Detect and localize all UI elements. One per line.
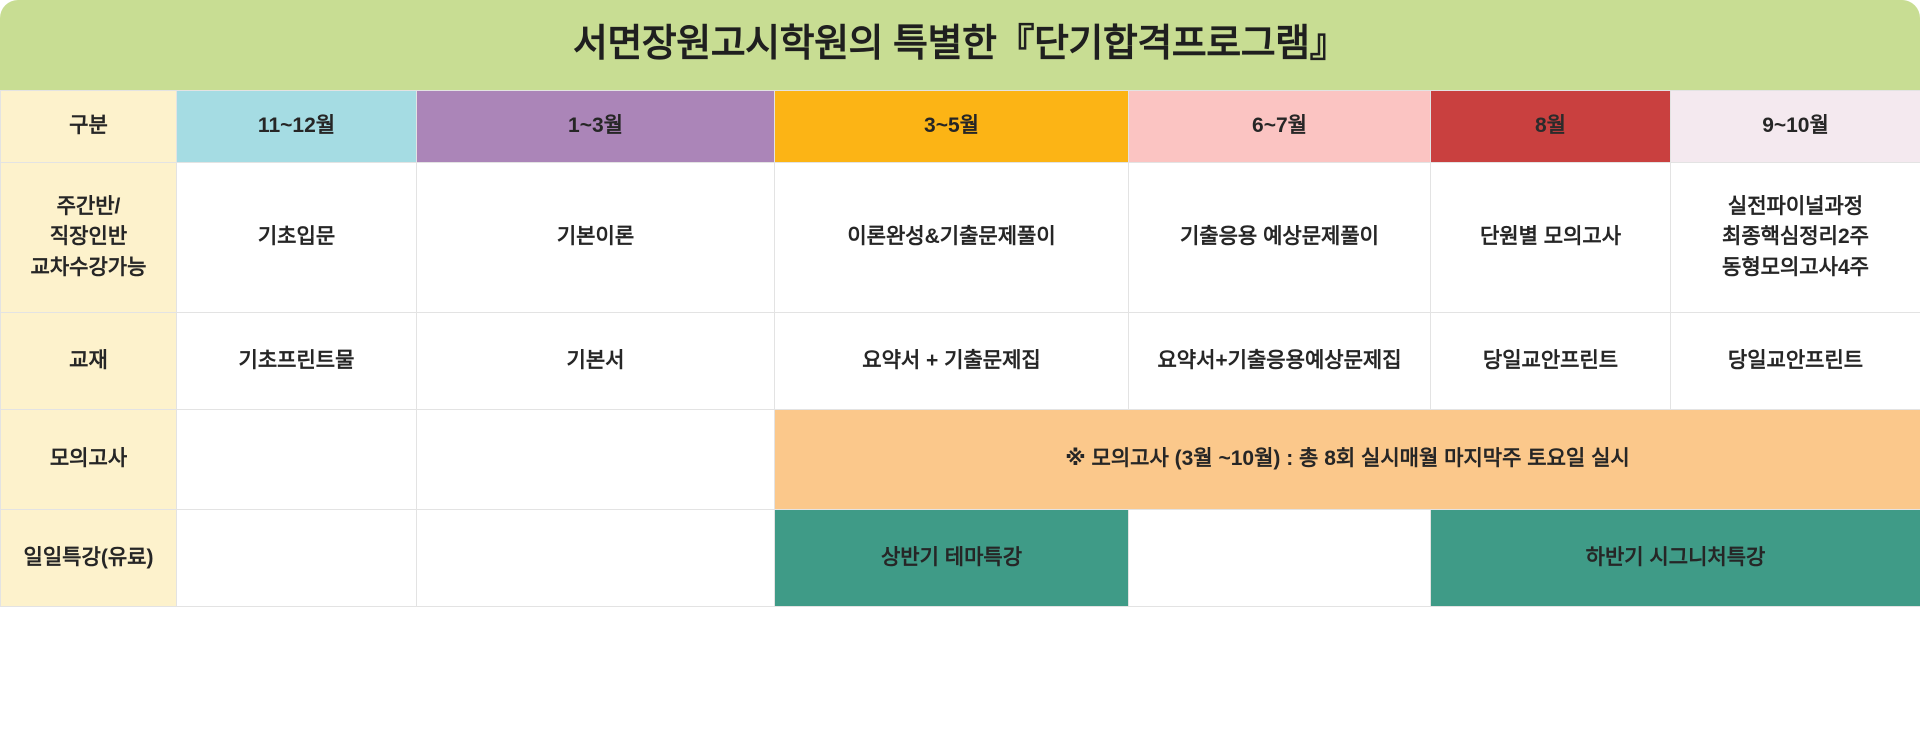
course-cell-nov-dec: 기초입문 xyxy=(177,163,417,313)
row-label-special-lecture: 일일특강(유료) xyxy=(1,510,177,607)
textbook-cell-aug: 당일교안프린트 xyxy=(1431,313,1671,410)
course-cell-aug: 단원별 모의고사 xyxy=(1431,163,1671,313)
course-cell-jan-mar: 기본이론 xyxy=(417,163,775,313)
page-title: 서면장원고시학원의 특별한『단기합격프로그램』 xyxy=(573,24,1347,66)
header-cell-nov-dec: 11~12월 xyxy=(177,91,417,163)
header-cell-jun-jul: 6~7월 xyxy=(1129,91,1431,163)
title-banner: 서면장원고시학원의 특별한『단기합격프로그램』 xyxy=(0,0,1920,90)
textbook-cell-jan-mar: 기본서 xyxy=(417,313,775,410)
header-cell-mar-may: 3~5월 xyxy=(775,91,1129,163)
table-row-course: 주간반/ 직장인반 교차수강가능 기초입문 기본이론 이론완성&기출문제풀이 기… xyxy=(1,163,1920,313)
row-label-textbook: 교재 xyxy=(1,313,177,410)
textbook-cell-nov-dec: 기초프린트물 xyxy=(177,313,417,410)
course-cell-mar-may: 이론완성&기출문제풀이 xyxy=(775,163,1129,313)
special-cell-jun-jul-empty xyxy=(1129,510,1431,607)
row-label-course-line3: 교차수강가능 xyxy=(9,253,168,283)
header-cell-division: 구분 xyxy=(1,91,177,163)
table-header-row: 구분 11~12월 1~3월 3~5월 6~7월 8월 9~10월 xyxy=(1,91,1920,163)
mock-cell-jan-mar-empty xyxy=(417,410,775,510)
textbook-cell-sep-oct: 당일교안프린트 xyxy=(1671,313,1920,410)
course-cell-sep-oct-line2: 최종핵심정리2주 xyxy=(1679,222,1912,252)
row-label-mock-exam: 모의고사 xyxy=(1,410,177,510)
table-row-textbook: 교재 기초프린트물 기본서 요약서 + 기출문제집 요약서+기출응용예상문제집 … xyxy=(1,313,1920,410)
program-schedule-page: 서면장원고시학원의 특별한『단기합격프로그램』 구분 11~12월 1~3월 3… xyxy=(0,0,1920,750)
course-cell-jun-jul: 기출응용 예상문제풀이 xyxy=(1129,163,1431,313)
row-label-course-line2: 직장인반 xyxy=(9,222,168,252)
special-lecture-first-half: 상반기 테마특강 xyxy=(775,510,1129,607)
table-row-mock-exam: 모의고사 ※ 모의고사 (3월 ~10월) : 총 8회 실시매월 마지막주 토… xyxy=(1,410,1920,510)
header-cell-aug: 8월 xyxy=(1431,91,1671,163)
header-cell-sep-oct: 9~10월 xyxy=(1671,91,1920,163)
special-cell-nov-dec-empty xyxy=(177,510,417,607)
special-lecture-second-half: 하반기 시그니처특강 xyxy=(1431,510,1920,607)
textbook-cell-mar-may: 요약서 + 기출문제집 xyxy=(775,313,1129,410)
row-label-course-line1: 주간반/ xyxy=(9,192,168,222)
course-cell-sep-oct-line3: 동형모의고사4주 xyxy=(1679,253,1912,283)
mock-cell-nov-dec-empty xyxy=(177,410,417,510)
header-cell-jan-mar: 1~3월 xyxy=(417,91,775,163)
table-row-special-lecture: 일일특강(유료) 상반기 테마특강 하반기 시그니처특강 xyxy=(1,510,1920,607)
textbook-cell-jun-jul: 요약서+기출응용예상문제집 xyxy=(1129,313,1431,410)
special-cell-jan-mar-empty xyxy=(417,510,775,607)
row-label-course: 주간반/ 직장인반 교차수강가능 xyxy=(1,163,177,313)
schedule-table: 구분 11~12월 1~3월 3~5월 6~7월 8월 9~10월 주간반/ 직… xyxy=(0,90,1920,607)
course-cell-sep-oct: 실전파이널과정 최종핵심정리2주 동형모의고사4주 xyxy=(1671,163,1920,313)
mock-exam-note: ※ 모의고사 (3월 ~10월) : 총 8회 실시매월 마지막주 토요일 실시 xyxy=(775,410,1920,510)
course-cell-sep-oct-line1: 실전파이널과정 xyxy=(1679,192,1912,222)
